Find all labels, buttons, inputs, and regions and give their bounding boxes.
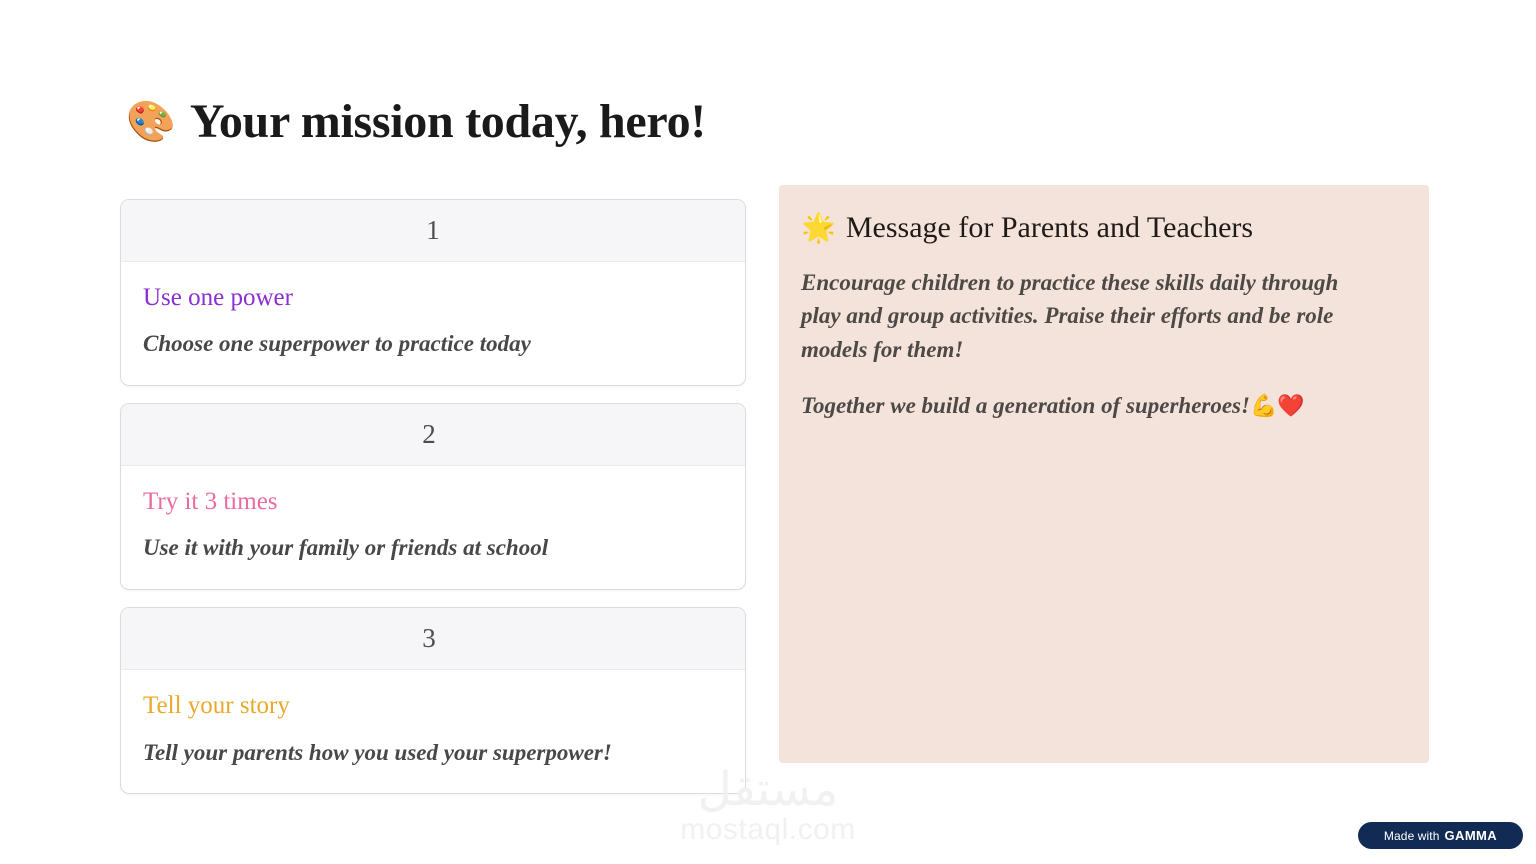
step-card-3[interactable]: 3 Tell your story Tell your parents how …: [120, 607, 746, 794]
watermark-url-text: mostaql.com: [680, 815, 856, 845]
message-closing-text: Together we build a generation of superh…: [801, 393, 1250, 418]
glowing-star-icon: 🌟: [801, 214, 836, 242]
step-description: Use it with your family or friends at sc…: [143, 533, 723, 563]
step-card-header: 1: [121, 200, 745, 262]
page-title-text: Your mission today, hero!: [190, 96, 706, 149]
gamma-brand-label: GAMMA: [1445, 828, 1498, 843]
step-number: 1: [426, 217, 440, 244]
flexed-biceps-icon: 💪: [1250, 394, 1277, 419]
step-card-header: 2: [121, 404, 745, 466]
step-card-header: 3: [121, 608, 745, 670]
step-heading: Use one power: [143, 282, 723, 313]
message-paragraph: Encourage children to practice these ski…: [801, 266, 1376, 366]
step-card-1[interactable]: 1 Use one power Choose one superpower to…: [120, 199, 746, 386]
steps-list: 1 Use one power Choose one superpower to…: [120, 199, 746, 794]
step-card-body: Try it 3 times Use it with your family o…: [121, 466, 745, 589]
step-heading: Try it 3 times: [143, 486, 723, 517]
red-heart-icon: ❤️: [1277, 394, 1304, 419]
step-card-body: Tell your story Tell your parents how yo…: [121, 670, 745, 793]
step-description: Choose one superpower to practice today: [143, 329, 723, 359]
message-closing: Together we build a generation of superh…: [801, 389, 1376, 423]
step-card-body: Use one power Choose one superpower to p…: [121, 262, 745, 385]
made-with-gamma-badge[interactable]: Made with GAMMA: [1358, 822, 1523, 849]
step-card-2[interactable]: 2 Try it 3 times Use it with your family…: [120, 403, 746, 590]
step-heading: Tell your story: [143, 690, 723, 721]
step-description: Tell your parents how you used your supe…: [143, 738, 723, 768]
message-panel: 🌟 Message for Parents and Teachers Encou…: [779, 185, 1429, 763]
page-title: 🎨 Your mission today, hero!: [126, 96, 706, 149]
step-number: 2: [422, 421, 436, 448]
message-panel-title: 🌟 Message for Parents and Teachers: [801, 211, 1401, 244]
artist-palette-icon: 🎨: [126, 102, 176, 142]
message-panel-title-text: Message for Parents and Teachers: [846, 211, 1253, 244]
step-number: 3: [422, 625, 436, 652]
gamma-made-with-label: Made with: [1384, 829, 1440, 843]
